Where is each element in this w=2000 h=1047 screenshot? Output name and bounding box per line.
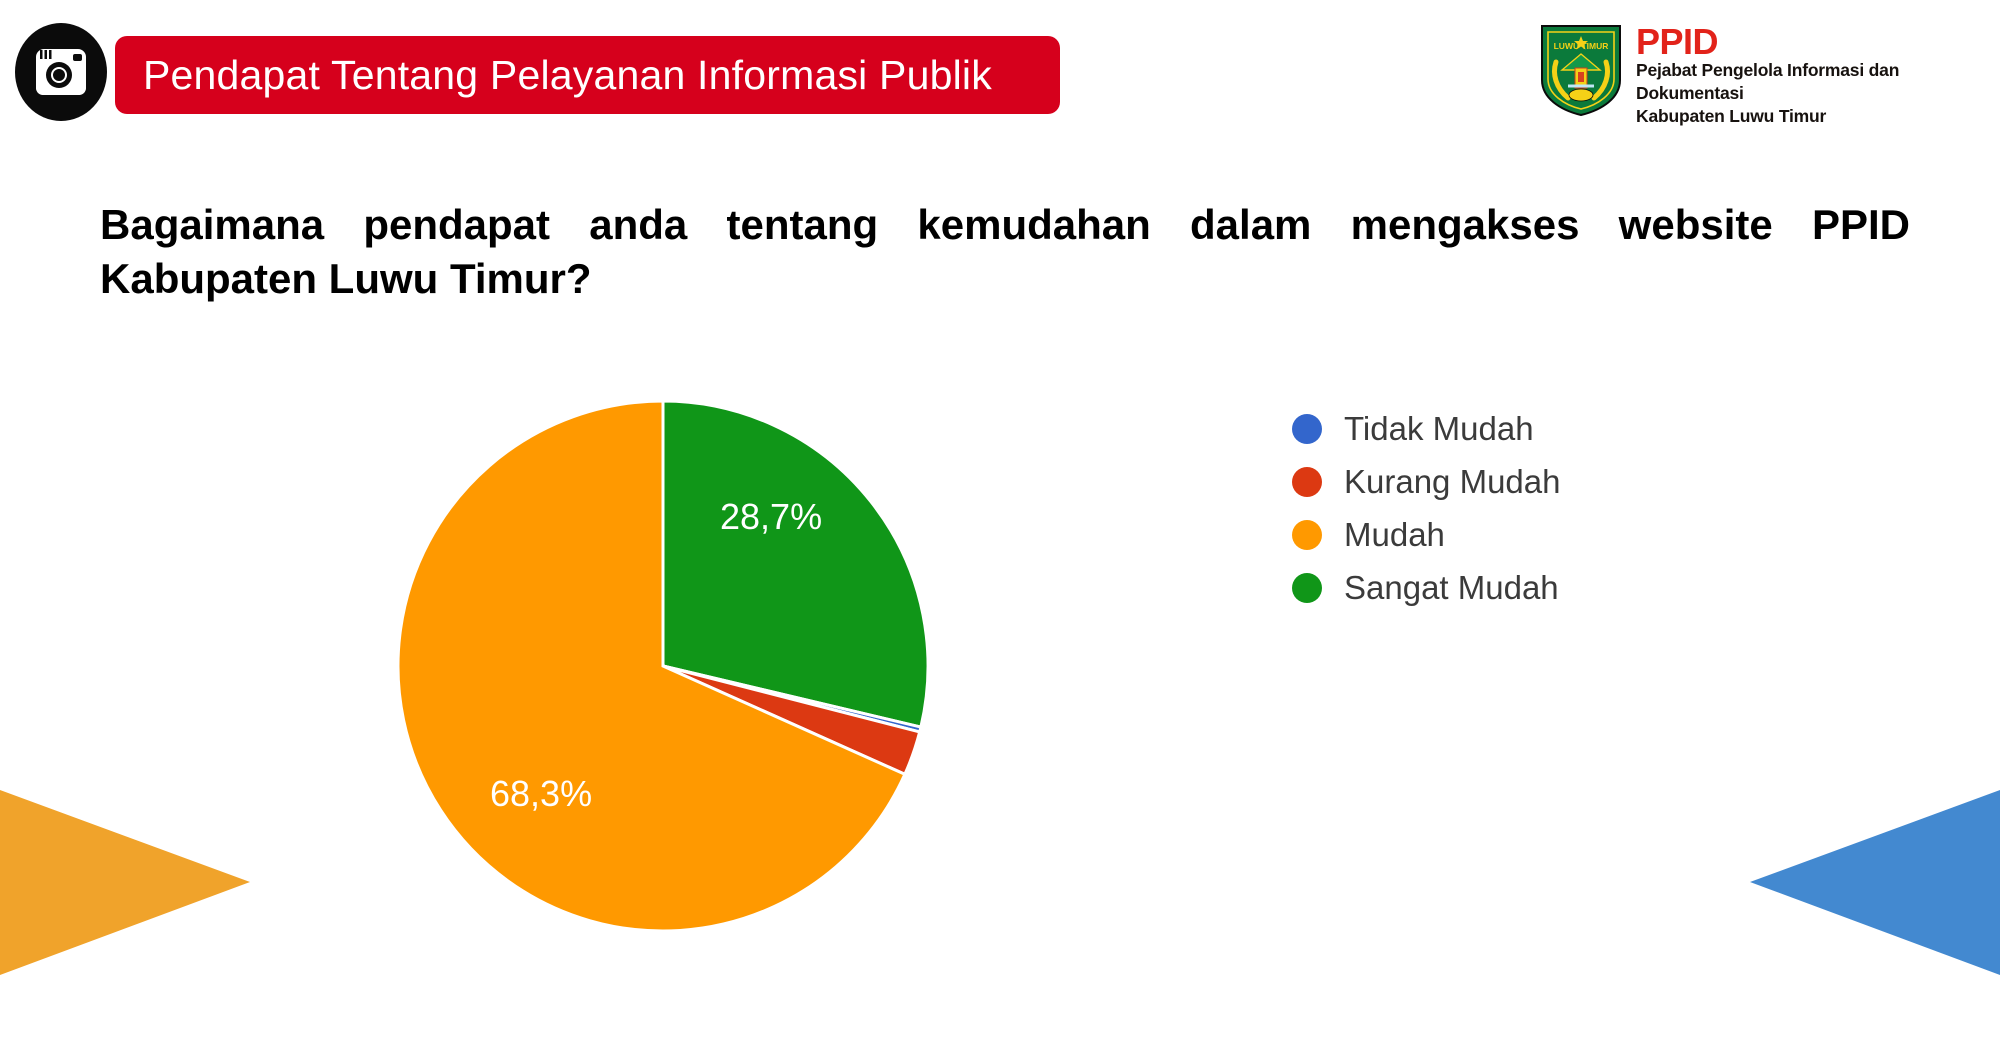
decorative-right-triangle (1750, 790, 2000, 975)
legend-color-dot-sangat-mudah (1292, 573, 1322, 603)
chart-legend: Tidak Mudah Kurang Mudah Mudah Sangat Mu… (1292, 402, 1560, 614)
pie-chart-svg (395, 398, 931, 934)
legend-color-dot-mudah (1292, 520, 1322, 550)
legend-label-sangat-mudah: Sangat Mudah (1344, 569, 1559, 607)
title-banner-label: Pendapat Tentang Pelayanan Informasi Pub… (143, 52, 992, 99)
ppid-acronym: PPID (1636, 24, 2000, 59)
ppid-subtitle-line1: Pejabat Pengelola Informasi dan Dokument… (1636, 59, 2000, 105)
legend-label-tidak-mudah: Tidak Mudah (1344, 410, 1534, 448)
pie-slice-label-mudah: 68,3% (490, 773, 592, 815)
ppid-subtitle-line2: Kabupaten Luwu Timur (1636, 105, 2000, 128)
pie-slice-label-sangat-mudah: 28,7% (720, 496, 822, 538)
legend-item-mudah[interactable]: Mudah (1292, 508, 1560, 561)
ppid-logo-block: LUWU TIMUR PPID Pejabat Pengelola Inform… (1538, 22, 2000, 128)
decorative-left-triangle (0, 790, 250, 975)
legend-label-kurang-mudah: Kurang Mudah (1344, 463, 1560, 501)
legend-item-kurang-mudah[interactable]: Kurang Mudah (1292, 455, 1560, 508)
pie-slice (663, 666, 920, 774)
instagram-camera-icon (14, 22, 108, 122)
title-banner: Pendapat Tentang Pelayanan Informasi Pub… (115, 36, 1060, 114)
legend-item-sangat-mudah[interactable]: Sangat Mudah (1292, 561, 1560, 614)
pie-slice (663, 666, 921, 732)
pie-slice (398, 401, 905, 931)
pie-chart: 28,7% 68,3% (0, 0, 2000, 1047)
legend-color-dot-tidak-mudah (1292, 414, 1322, 444)
legend-label-mudah: Mudah (1344, 516, 1445, 554)
luwu-timur-shield-icon: LUWU TIMUR (1538, 22, 1624, 118)
question-line-2: Kabupaten Luwu Timur? (100, 252, 1910, 306)
question-line-1: Bagaimana pendapat anda tentang kemudaha… (100, 198, 1910, 252)
legend-item-tidak-mudah[interactable]: Tidak Mudah (1292, 402, 1560, 455)
legend-color-dot-kurang-mudah (1292, 467, 1322, 497)
question-heading: Bagaimana pendapat anda tentang kemudaha… (100, 198, 1910, 306)
pie-slice (663, 401, 928, 727)
